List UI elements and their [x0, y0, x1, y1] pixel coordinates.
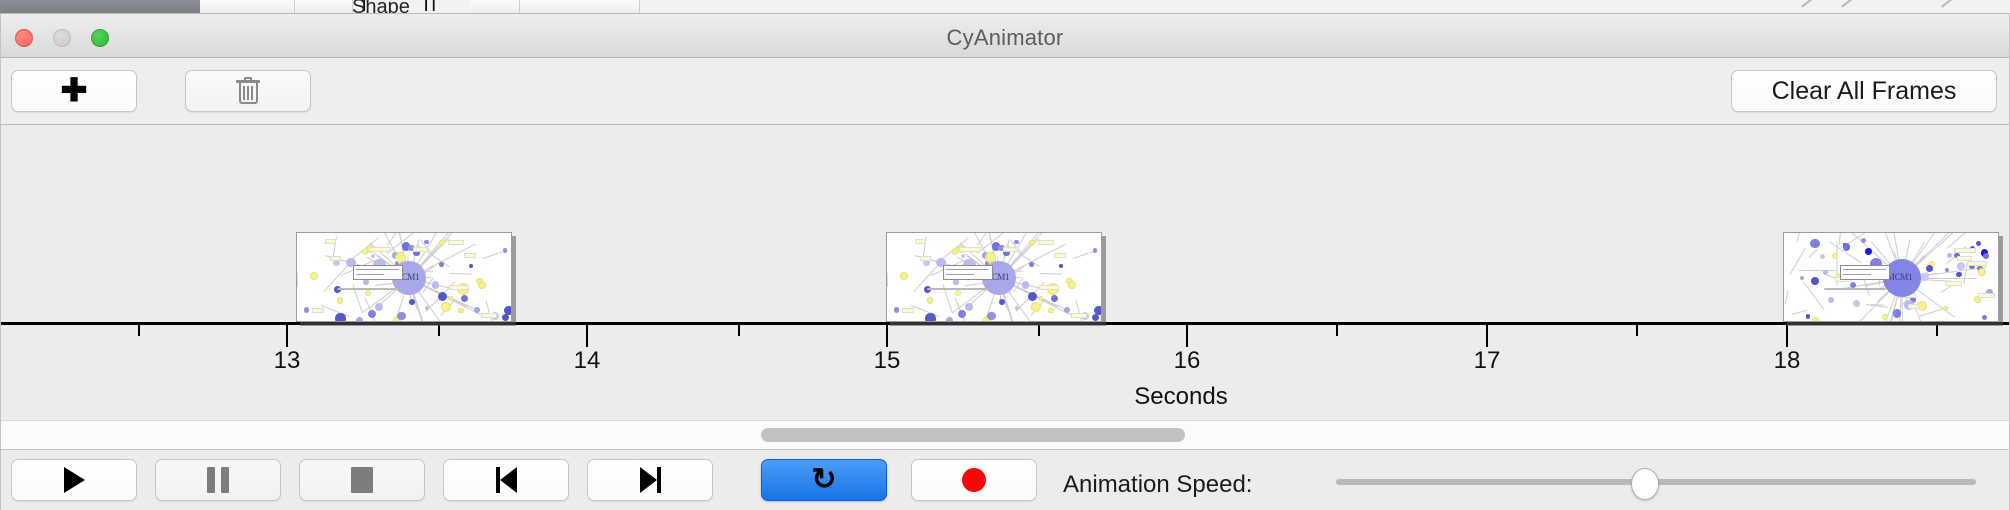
axis-tick-minor: [1636, 325, 1638, 336]
timeline-frame-thumbnail[interactable]: MCM1: [296, 232, 512, 322]
graph-node: [1828, 297, 1834, 303]
skip-to-end-button[interactable]: [587, 459, 713, 501]
graph-edge: [1797, 232, 1807, 242]
play-button[interactable]: [11, 459, 137, 501]
graph-node: [365, 290, 372, 297]
graph-node: [478, 281, 486, 289]
skip-forward-icon: [640, 467, 661, 493]
graph-edge: [1802, 281, 1824, 309]
timeline-horizontal-scrollbar[interactable]: [1, 420, 2009, 450]
axis-tick-minor: [1038, 325, 1040, 336]
graph-node: [375, 303, 383, 311]
axis-tick-minor: [738, 325, 740, 336]
graph-node-label: [1945, 281, 1962, 286]
delete-frame-button[interactable]: [185, 70, 311, 112]
timeline-frame-thumbnail[interactable]: MCM1: [1783, 232, 1999, 322]
axis-tick-major: [1486, 325, 1488, 347]
graph-node: [1015, 306, 1019, 310]
graph-node-label: [1978, 293, 1995, 298]
graph-annotation-text-line: [356, 274, 384, 275]
animation-speed-label: Animation Speed:: [1063, 471, 1252, 499]
graph-caption-line: [1824, 288, 1886, 290]
graph-annotation-box: [943, 265, 993, 280]
graph-node: [304, 307, 309, 312]
graph-node: [441, 302, 451, 312]
graph-node: [439, 240, 445, 246]
background-slash: [1801, 0, 1815, 8]
graph-node: [1982, 315, 1987, 320]
graph-node: [1843, 243, 1850, 250]
graph-node-label: [1039, 285, 1059, 290]
graph-node-label: [1908, 304, 1919, 309]
graph-node: [1893, 309, 1901, 317]
axis-tick-minor: [1936, 325, 1938, 336]
axis-tick-minor: [1336, 325, 1338, 336]
graph-node: [1861, 238, 1866, 243]
graph-node-label: [312, 308, 324, 313]
graph-node: [439, 262, 443, 266]
graph-node: [1956, 272, 1961, 277]
graph-node: [1983, 253, 1989, 259]
skip-back-icon: [496, 467, 517, 493]
animation-speed-slider-thumb[interactable]: [1631, 468, 1659, 500]
graph-edge: [450, 273, 472, 275]
graph-node: [900, 272, 908, 280]
graph-node: [1812, 317, 1819, 322]
graph-node: [1811, 277, 1819, 285]
network-graph-preview: MCM1: [887, 233, 1101, 321]
graph-node: [1068, 281, 1076, 289]
timeline-panel[interactable]: 2131415161718 MCM1MCM1MCM1 Seconds: [1, 125, 2009, 420]
axis-tick-label: 15: [874, 347, 901, 375]
background-dark-panel: [0, 0, 200, 14]
graph-node: [1943, 306, 1948, 311]
graph-node: [371, 254, 375, 258]
graph-node-label: [1003, 247, 1018, 252]
graph-edge: [297, 272, 298, 286]
graph-edge: [1784, 291, 1788, 305]
axis-tick-label: 16: [1174, 347, 1201, 375]
record-icon: [962, 468, 986, 492]
graph-node-label: [1967, 261, 1987, 266]
window-titlebar: CyAnimator: [1, 14, 2009, 58]
graph-node: [1028, 292, 1037, 301]
graph-node: [432, 281, 440, 289]
background-slash: [1841, 0, 1855, 8]
axis-tick-minor: [438, 325, 440, 336]
graph-node: [1048, 308, 1054, 314]
graph-node: [1853, 300, 1860, 307]
scrollbar-thumb[interactable]: [761, 428, 1185, 442]
graph-edge: [1838, 232, 1842, 246]
graph-node: [927, 297, 933, 303]
background-window-strip: T Ti Shape: [0, 0, 2010, 14]
axis-tick-major: [1186, 325, 1188, 347]
stop-icon: [351, 467, 373, 493]
graph-node-label: [464, 253, 476, 258]
graph-node-label: [1038, 240, 1053, 245]
graph-node: [894, 307, 899, 312]
axis-tick-label: 17: [1474, 347, 1501, 375]
graph-node: [1832, 253, 1838, 259]
add-frame-button[interactable]: ✚: [11, 70, 137, 112]
graph-node-label: [1954, 248, 1976, 253]
graph-node: [425, 306, 429, 310]
graph-node: [1051, 295, 1058, 302]
plus-icon: ✚: [61, 78, 88, 104]
graph-node: [502, 314, 509, 321]
graph-edge: [1791, 309, 1806, 314]
axis-tick-label: 18: [1774, 347, 1801, 375]
axis-tick-major: [286, 325, 288, 347]
graph-node-label: [915, 239, 925, 244]
skip-to-start-button[interactable]: [443, 459, 569, 501]
cyanimator-window: CyAnimator ✚ Clear All Frames 2131415161…: [0, 13, 2010, 510]
graph-node: [504, 306, 512, 315]
axis-tick-major: [586, 325, 588, 347]
graph-node: [397, 312, 406, 321]
graph-node: [469, 264, 474, 269]
timeline-axis: [1, 322, 2009, 325]
loop-icon: ↻: [811, 465, 836, 495]
graph-annotation-text-line: [1843, 269, 1886, 270]
graph-annotation-text-line: [946, 269, 989, 270]
graph-node: [356, 317, 363, 322]
window-title: CyAnimator: [1, 25, 2009, 51]
graph-node: [1865, 248, 1872, 255]
clear-all-frames-label: Clear All Frames: [1772, 77, 1957, 106]
graph-node: [1014, 240, 1018, 244]
graph-node: [458, 308, 464, 314]
transport-bar: ↻ Animation Speed:: [1, 450, 2009, 510]
graph-node-label: [920, 256, 931, 261]
graph-edge: [1799, 270, 1837, 271]
graph-node: [1029, 240, 1035, 246]
graph-node: [438, 292, 447, 301]
graph-annotation-box: [353, 265, 403, 280]
graph-node-label: [325, 239, 335, 244]
graph-edge: [1040, 273, 1062, 275]
graph-node: [335, 313, 345, 322]
graph-node-label: [330, 256, 341, 261]
graph-node: [424, 240, 428, 244]
graph-node: [1094, 306, 1102, 315]
loop-toggle-button[interactable]: ↻: [761, 459, 887, 501]
graph-node-label: [481, 313, 497, 318]
graph-node: [1059, 264, 1064, 269]
background-tab: [295, 0, 353, 14]
graph-node: [953, 279, 958, 284]
pause-icon: [207, 467, 229, 493]
graph-node: [1800, 276, 1805, 281]
graph-node-label: [448, 240, 463, 245]
graph-node: [925, 313, 935, 322]
clear-all-frames-button[interactable]: Clear All Frames: [1731, 70, 1997, 112]
record-button[interactable]: [911, 459, 1037, 501]
graph-node-label: [959, 247, 981, 252]
graph-node-label: [449, 285, 469, 290]
background-tab: [470, 0, 520, 14]
graph-annotation-text-line: [946, 274, 974, 275]
graph-caption-line: [337, 288, 399, 290]
graph-node: [1029, 262, 1033, 266]
background-slash: [1941, 0, 1955, 8]
graph-node: [1820, 254, 1825, 259]
graph-node: [961, 254, 965, 258]
graph-edge: [887, 272, 888, 286]
trash-icon: [236, 77, 260, 105]
axis-title: Seconds: [1134, 383, 1227, 411]
background-tab: [520, 0, 640, 14]
graph-annotation-box: [1840, 265, 1890, 280]
axis-tick-minor: [138, 325, 140, 336]
background-window-label: Shape: [352, 0, 410, 14]
graph-node: [1806, 314, 1810, 318]
graph-node: [1022, 281, 1030, 289]
graph-hub-node-label: MCM1: [1887, 272, 1912, 282]
graph-node-label: [1071, 313, 1087, 318]
graph-node: [1810, 239, 1819, 248]
graph-node: [1092, 314, 1099, 321]
graph-node: [1031, 302, 1041, 312]
graph-node: [503, 248, 507, 252]
graph-node: [965, 303, 973, 311]
axis-tick-major: [1786, 325, 1788, 347]
graph-node: [1976, 241, 1981, 246]
graph-node-label: [902, 308, 914, 313]
network-graph-preview: MCM1: [297, 233, 511, 321]
background-glyph: Ti: [420, 0, 436, 14]
graph-node: [362, 248, 369, 255]
axis-tick-label: 14: [574, 347, 601, 375]
graph-edge: [1809, 249, 1819, 258]
pause-button[interactable]: [155, 459, 281, 501]
graph-node-label: [369, 247, 391, 252]
graph-node: [987, 312, 996, 321]
graph-node: [1921, 273, 1929, 281]
graph-node: [363, 279, 368, 284]
graph-node: [1093, 248, 1097, 252]
graph-caption-line: [927, 288, 989, 290]
graph-node: [310, 272, 318, 280]
graph-node: [1926, 265, 1933, 272]
graph-annotation-text-line: [356, 269, 399, 270]
graph-node: [1882, 314, 1888, 320]
timeline-frame-thumbnail[interactable]: MCM1: [886, 232, 1102, 322]
network-graph-preview: MCM1: [1784, 233, 1998, 321]
graph-node: [955, 290, 962, 297]
graph-node: [461, 295, 468, 302]
axis-tick-major: [886, 325, 888, 347]
graph-node: [368, 310, 376, 318]
graph-node-label: [1054, 253, 1066, 258]
graph-annotation-text-line: [1843, 274, 1871, 275]
play-icon: [64, 467, 85, 493]
graph-node: [952, 248, 959, 255]
graph-node: [1978, 268, 1986, 276]
background-tab: [200, 0, 295, 14]
graph-node-label: [413, 247, 428, 252]
axis-tick-label: 13: [274, 347, 301, 375]
graph-node: [946, 317, 953, 322]
toolbar: ✚ Clear All Frames: [1, 58, 2009, 125]
graph-node: [958, 310, 966, 318]
stop-button[interactable]: [299, 459, 425, 501]
graph-node: [337, 297, 343, 303]
